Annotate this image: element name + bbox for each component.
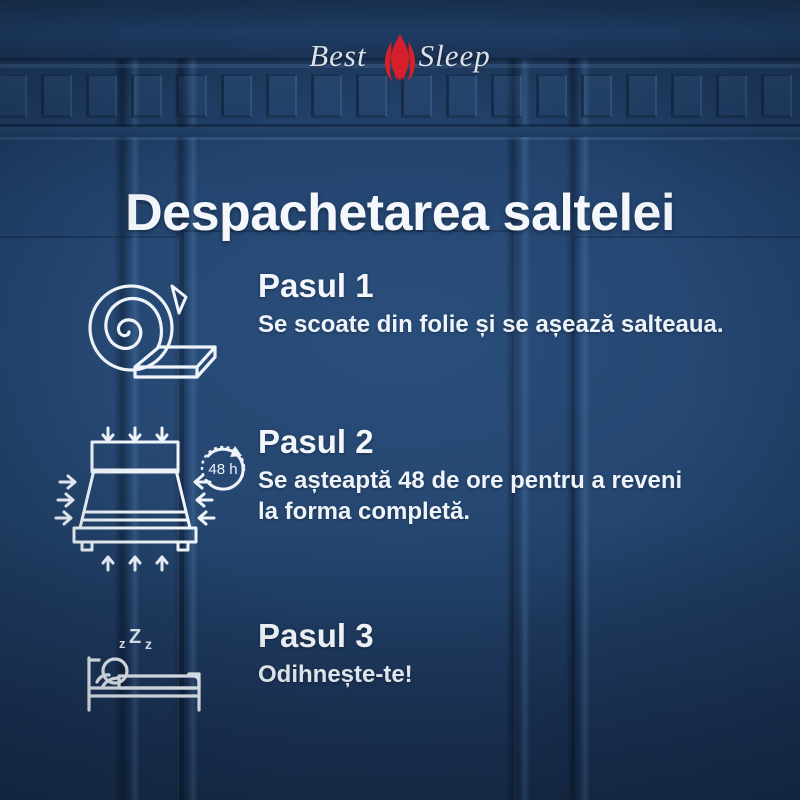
step-1-description: Se scoate din folie și se așează salteau… bbox=[258, 309, 760, 340]
svg-text:z: z bbox=[145, 636, 152, 652]
sleep-z-marks: z Z z bbox=[119, 626, 152, 652]
svg-text:Z: Z bbox=[129, 626, 141, 648]
step-item-2: 48 h Pasul 2 Se așteaptă 48 de ore pentr… bbox=[60, 424, 760, 574]
step-2-text-block: Pasul 2 Se așteaptă 48 de ore pentru a r… bbox=[250, 424, 760, 527]
infographic-canvas: BestSleep Despachetarea saltelei bbox=[0, 0, 800, 800]
step-3-text-block: Pasul 3 Odihnește-te! bbox=[250, 618, 760, 690]
step-3-title: Pasul 3 bbox=[258, 618, 760, 655]
step-item-3: z Z z Pasul 3 Odihnește-te! bbox=[60, 618, 760, 718]
badge-48h-label: 48 h bbox=[208, 461, 237, 478]
svg-text:z: z bbox=[119, 636, 126, 651]
step-2-title: Pasul 2 bbox=[258, 424, 760, 461]
step-2-description-line-2: la forma completă. bbox=[258, 496, 760, 527]
step-item-1: Pasul 1 Se scoate din folie și se așează… bbox=[60, 268, 760, 388]
person-sleeping-in-bed-icon: z Z z bbox=[60, 618, 250, 718]
rolled-mattress-unrolling-icon bbox=[60, 268, 250, 388]
mattress-expanding-arrows-icon: 48 h bbox=[60, 424, 250, 574]
clock-rotate-icon: 48 h bbox=[202, 446, 244, 489]
step-2-description-line-1: Se așteaptă 48 de ore pentru a reveni bbox=[258, 465, 760, 496]
step-1-text-block: Pasul 1 Se scoate din folie și se așează… bbox=[250, 268, 760, 340]
step-1-title: Pasul 1 bbox=[258, 268, 760, 305]
step-3-description: Odihnește-te! bbox=[258, 659, 760, 690]
